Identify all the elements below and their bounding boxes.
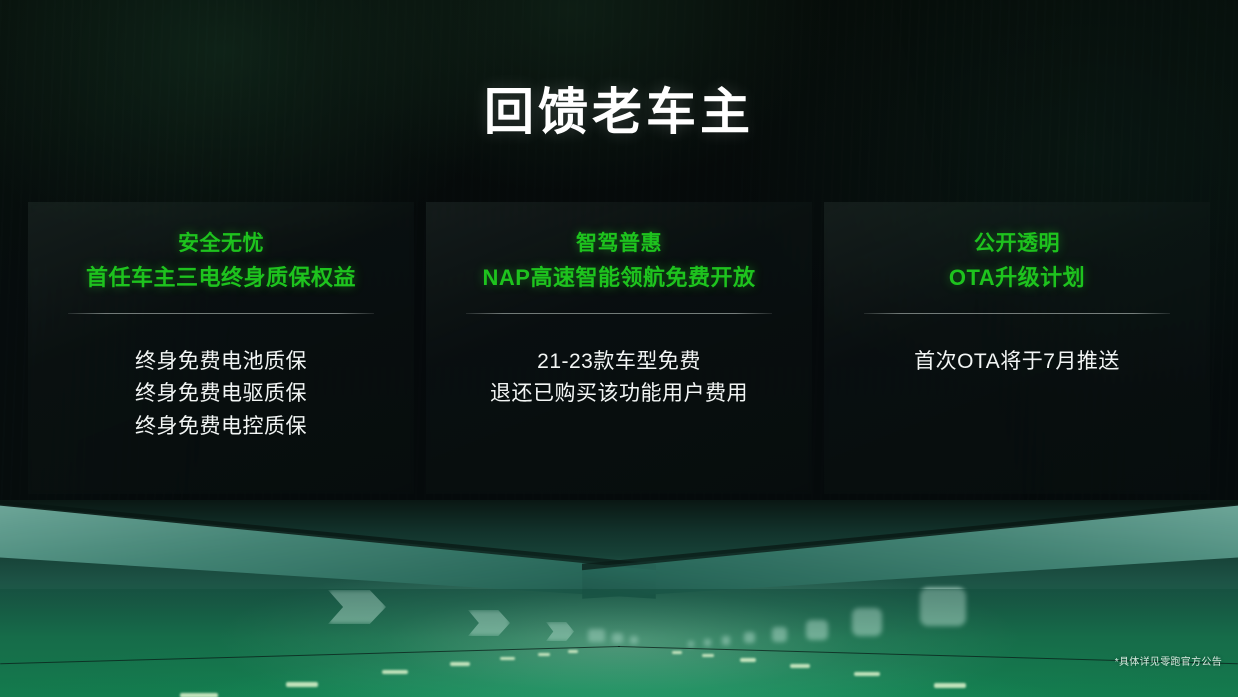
presentation-slide: 回馈老车主 安全无忧 首任车主三电终身质保权益 终身免费电池质保 终身免费电驱质…	[0, 0, 1238, 697]
road-lane-marker	[790, 664, 810, 668]
card-heading: 智驾普惠 NAP高速智能领航免费开放	[448, 228, 790, 295]
card-heading-line1: 公开透明	[846, 228, 1188, 261]
card-heading-line2: OTA升级计划	[846, 261, 1188, 295]
card-body-line: 终身免费电控质保	[50, 411, 392, 444]
card-heading-line1: 智驾普惠	[448, 228, 790, 261]
benefit-cards-row: 安全无忧 首任车主三电终身质保权益 终身免费电池质保 终身免费电驱质保 终身免费…	[28, 202, 1210, 494]
card-heading-line2: 首任车主三电终身质保权益	[50, 261, 392, 295]
card-heading: 安全无忧 首任车主三电终身质保权益	[50, 228, 392, 295]
card-body-line: 终身免费电池质保	[50, 346, 392, 379]
card-body: 21-23款车型免费 退还已购买该功能用户费用	[448, 346, 790, 411]
card-heading-line1: 安全无忧	[50, 228, 392, 261]
card-divider	[466, 313, 772, 314]
road-surface	[0, 589, 1238, 697]
road-lane-marker	[382, 670, 408, 674]
card-divider	[864, 313, 1170, 314]
road-lane-marker	[672, 651, 682, 654]
card-heading: 公开透明 OTA升级计划	[846, 228, 1188, 295]
card-body: 终身免费电池质保 终身免费电驱质保 终身免费电控质保	[50, 346, 392, 444]
page-title: 回馈老车主	[0, 84, 1238, 142]
card-body-line: 终身免费电驱质保	[50, 378, 392, 411]
road-lane-marker	[180, 693, 218, 697]
benefit-card-warranty[interactable]: 安全无忧 首任车主三电终身质保权益 终身免费电池质保 终身免费电驱质保 终身免费…	[28, 202, 414, 494]
card-divider	[68, 313, 374, 314]
road-lane-marker	[854, 672, 880, 676]
card-body: 首次OTA将于7月推送	[846, 346, 1188, 379]
tunnel-road-background-image	[0, 500, 1238, 697]
road-lane-marker	[500, 657, 515, 660]
card-body-line: 21-23款车型免费	[448, 346, 790, 379]
road-lane-marker	[934, 683, 966, 688]
benefit-card-nap[interactable]: 智驾普惠 NAP高速智能领航免费开放 21-23款车型免费 退还已购买该功能用户…	[426, 202, 812, 494]
card-heading-line2: NAP高速智能领航免费开放	[448, 261, 790, 295]
road-lane-marker	[740, 658, 756, 662]
footnote-disclaimer: *具体详见零跑官方公告	[1115, 653, 1222, 668]
road-lane-marker	[450, 662, 470, 666]
road-lane-marker	[538, 653, 550, 656]
road-lane-marker	[568, 650, 578, 653]
road-lane-marker	[286, 682, 318, 687]
benefit-card-ota[interactable]: 公开透明 OTA升级计划 首次OTA将于7月推送	[824, 202, 1210, 494]
card-body-line: 首次OTA将于7月推送	[846, 346, 1188, 379]
road-lane-marker	[702, 654, 714, 657]
card-body-line: 退还已购买该功能用户费用	[448, 378, 790, 411]
